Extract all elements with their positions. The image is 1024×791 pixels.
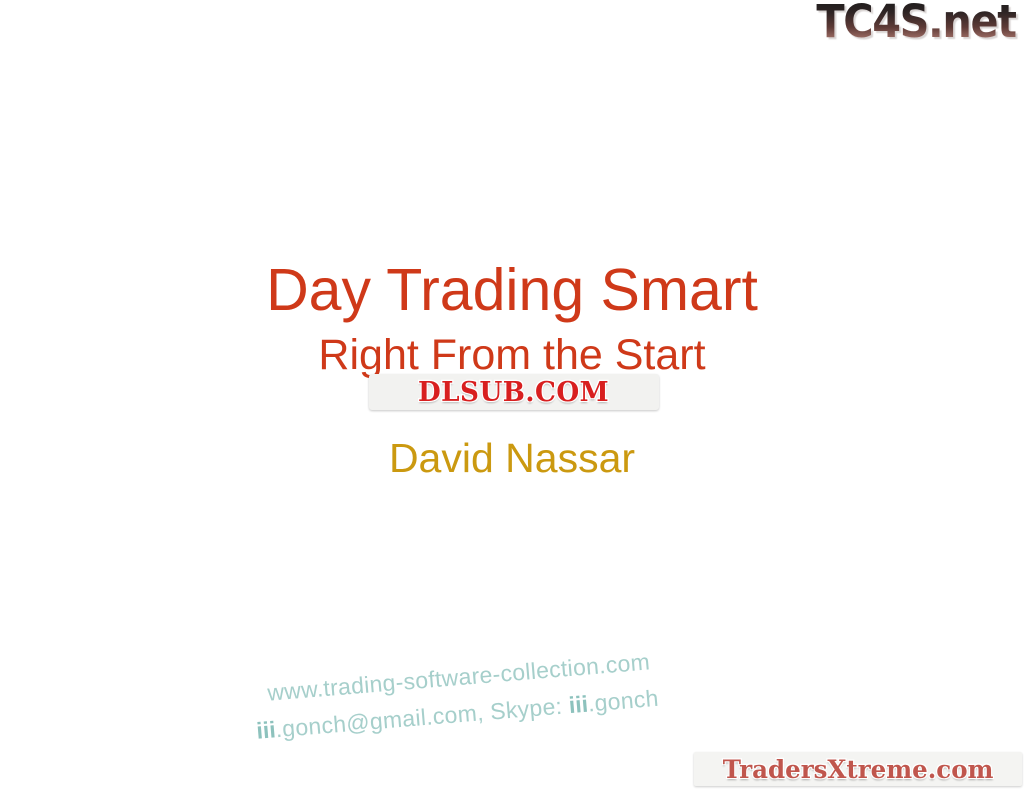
tradersxtreme-watermark-stamp: TradersXtreme.com: [694, 752, 1022, 786]
tradersxtreme-watermark-text: TradersXtreme.com: [723, 755, 994, 784]
tc4s-net-logo: TC4S.net: [817, 0, 1016, 45]
slide-title: Day Trading Smart: [0, 259, 1024, 323]
dlsub-watermark-text: DLSUB.COM: [418, 377, 609, 408]
watermark-skype-handle-suffix: .gonch: [587, 685, 660, 717]
watermark-contact-prefix: iii: [255, 717, 276, 744]
dlsub-watermark-stamp: DLSUB.COM: [369, 374, 659, 410]
presentation-slide: TC4S.net TC4S.net Day Trading Smart Righ…: [0, 0, 1024, 791]
site-watermark: www.trading-software-collection.com iii.…: [252, 633, 776, 750]
slide-subtitle: Right From the Start: [0, 332, 1024, 378]
author-name: David Nassar: [0, 436, 1024, 481]
watermark-skype-handle-prefix: iii: [568, 691, 589, 718]
